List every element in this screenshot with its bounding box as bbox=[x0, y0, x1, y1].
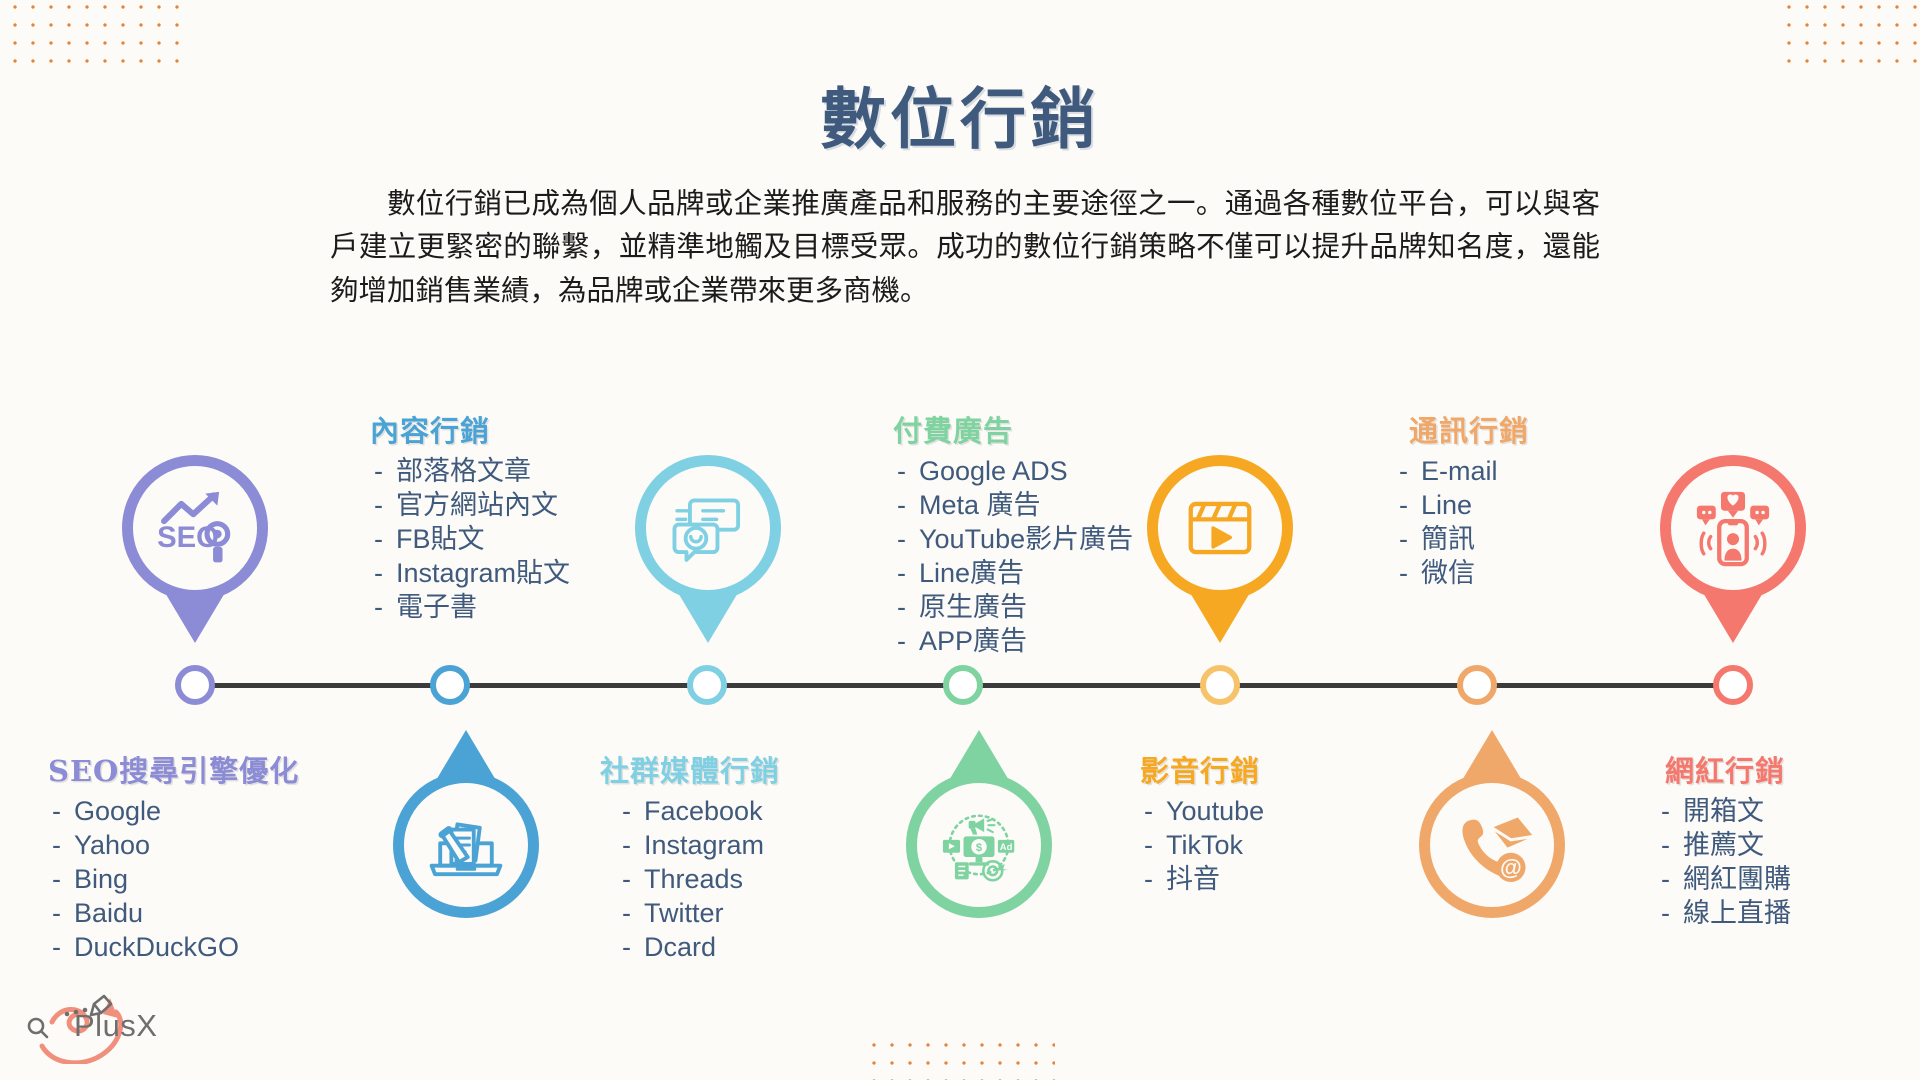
list-item: Facebook bbox=[618, 794, 780, 828]
list-item: Yahoo bbox=[48, 828, 299, 862]
dot-pattern-top-right bbox=[1780, 0, 1920, 74]
list-item: 電子書 bbox=[370, 590, 570, 624]
plusx-logo[interactable]: PlusX bbox=[22, 988, 172, 1064]
section-list: Youtube TikTok 抖音 bbox=[1140, 794, 1264, 896]
list-item: 原生廣告 bbox=[893, 590, 1133, 624]
section-heading: 影音行銷 bbox=[1140, 748, 1264, 790]
section-list: 部落格文章 官方網站內文 FB貼文 Instagram貼文 電子書 bbox=[370, 454, 570, 624]
page-title: 數位行銷 bbox=[0, 66, 1920, 162]
section-video: 影音行銷 Youtube TikTok 抖音 bbox=[1140, 748, 1264, 896]
pin-influencer[interactable] bbox=[1660, 455, 1806, 601]
section-content: 內容行銷 部落格文章 官方網站內文 FB貼文 Instagram貼文 電子書 bbox=[370, 408, 570, 624]
list-item: APP廣告 bbox=[893, 624, 1133, 658]
list-item: 微信 bbox=[1395, 556, 1529, 590]
list-item: DuckDuckGO bbox=[48, 930, 299, 964]
list-item: Instagram bbox=[618, 828, 780, 862]
svg-text:$: $ bbox=[976, 842, 983, 854]
list-item: 網紅團購 bbox=[1657, 862, 1791, 896]
svg-text:@: @ bbox=[1500, 855, 1522, 880]
list-item: Line廣告 bbox=[893, 556, 1133, 590]
list-item: Instagram貼文 bbox=[370, 556, 570, 590]
pin-social[interactable] bbox=[635, 455, 781, 601]
list-item: Twitter bbox=[618, 896, 780, 930]
pin-seo[interactable]: SEO bbox=[122, 455, 268, 601]
chat-bubbles-icon bbox=[635, 455, 781, 601]
section-messaging: 通訊行銷 E-mail Line 簡訊 微信 bbox=[1395, 408, 1529, 590]
section-heading: 通訊行銷 bbox=[1409, 408, 1529, 450]
list-item: Bing bbox=[48, 862, 299, 896]
dot-pattern-top-left bbox=[6, 0, 186, 74]
list-item: YouTube影片廣告 bbox=[893, 522, 1133, 556]
section-seo: SEO搜尋引擎優化 Google Yahoo Bing Baidu DuckDu… bbox=[48, 748, 299, 964]
timeline-node-seo[interactable] bbox=[175, 665, 215, 705]
section-heading: SEO搜尋引擎優化 bbox=[48, 748, 299, 790]
section-heading: 網紅行銷 bbox=[1665, 748, 1791, 790]
section-list: E-mail Line 簡訊 微信 bbox=[1395, 454, 1529, 590]
timeline-node-video[interactable] bbox=[1200, 665, 1240, 705]
pin-video[interactable] bbox=[1147, 455, 1293, 601]
section-list: Google Yahoo Bing Baidu DuckDuckGO bbox=[48, 794, 299, 964]
list-item: Google bbox=[48, 794, 299, 828]
list-item: Google ADS bbox=[893, 454, 1133, 488]
section-social: 社群媒體行銷 Facebook Instagram Threads Twitte… bbox=[600, 748, 780, 964]
list-item: Baidu bbox=[48, 896, 299, 930]
timeline-node-paid-ads[interactable] bbox=[943, 665, 983, 705]
pin-paid-ads[interactable]: $ Ad bbox=[906, 772, 1052, 918]
pin-content[interactable] bbox=[393, 772, 539, 918]
dot-pattern-bottom bbox=[865, 1036, 1055, 1080]
list-item: 抖音 bbox=[1140, 862, 1264, 896]
list-item: TikTok bbox=[1140, 828, 1264, 862]
section-list: 開箱文 推薦文 網紅團購 線上直播 bbox=[1645, 794, 1791, 930]
phone-heart-comments-icon bbox=[1660, 455, 1806, 601]
timeline-node-social[interactable] bbox=[687, 665, 727, 705]
list-item: 簡訊 bbox=[1395, 522, 1529, 556]
logo-text: PlusX bbox=[74, 1008, 157, 1044]
section-influencer: 網紅行銷 開箱文 推薦文 網紅團購 線上直播 bbox=[1645, 748, 1791, 930]
list-item: Line bbox=[1395, 488, 1529, 522]
ad-monitor-megaphone-icon: $ Ad bbox=[906, 772, 1052, 918]
section-heading: 社群媒體行銷 bbox=[600, 748, 780, 790]
svg-text:Ad: Ad bbox=[1000, 842, 1013, 853]
section-list: Facebook Instagram Threads Twitter Dcard bbox=[600, 794, 780, 964]
section-paid-ads: 付費廣告 Google ADS Meta 廣告 YouTube影片廣告 Line… bbox=[893, 408, 1133, 658]
section-list: Google ADS Meta 廣告 YouTube影片廣告 Line廣告 原生… bbox=[893, 454, 1133, 658]
list-item: Meta 廣告 bbox=[893, 488, 1133, 522]
list-item: 推薦文 bbox=[1657, 828, 1791, 862]
list-item: Dcard bbox=[618, 930, 780, 964]
list-item: Threads bbox=[618, 862, 780, 896]
timeline-node-messaging[interactable] bbox=[1457, 665, 1497, 705]
list-item: 開箱文 bbox=[1657, 794, 1791, 828]
list-item: Youtube bbox=[1140, 794, 1264, 828]
list-item: FB貼文 bbox=[370, 522, 570, 556]
timeline-node-content[interactable] bbox=[430, 665, 470, 705]
video-player-icon bbox=[1147, 455, 1293, 601]
pin-messaging[interactable]: @ bbox=[1419, 772, 1565, 918]
list-item: 部落格文章 bbox=[370, 454, 570, 488]
seo-chart-magnifier-icon: SEO bbox=[122, 455, 268, 601]
section-heading: 付費廣告 bbox=[893, 408, 1133, 450]
list-item: E-mail bbox=[1395, 454, 1529, 488]
phone-envelope-at-icon: @ bbox=[1419, 772, 1565, 918]
timeline-node-influencer[interactable] bbox=[1713, 665, 1753, 705]
list-item: 線上直播 bbox=[1657, 896, 1791, 930]
section-heading: 內容行銷 bbox=[370, 408, 570, 450]
laptop-documents-pencil-icon bbox=[393, 772, 539, 918]
list-item: 官方網站內文 bbox=[370, 488, 570, 522]
intro-paragraph: 數位行銷已成為個人品牌或企業推廣產品和服務的主要途徑之一。通過各種數位平台，可以… bbox=[330, 182, 1600, 312]
